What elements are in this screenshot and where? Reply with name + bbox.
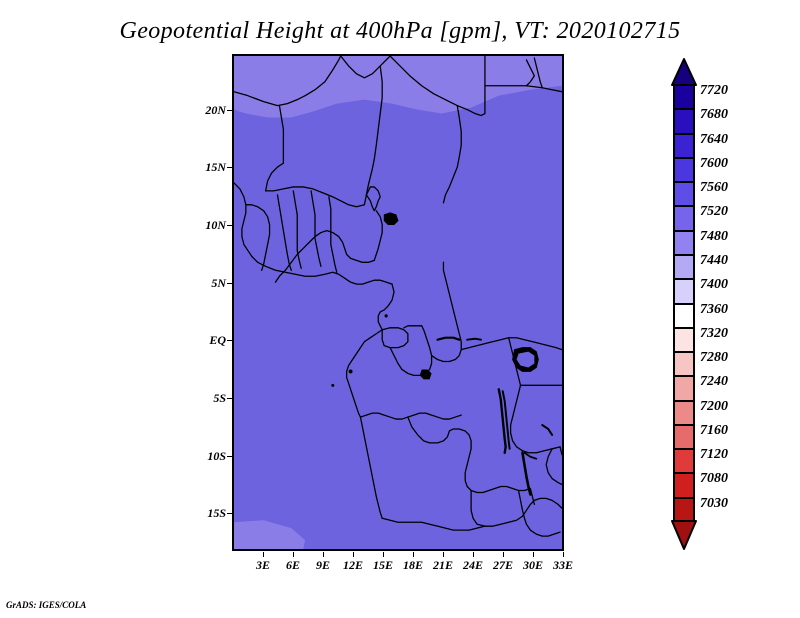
y-axis-tick-20n: [227, 110, 232, 111]
colorbar-tick-label: 7240: [700, 374, 728, 390]
colorbar-tick-label: 7560: [700, 180, 728, 196]
colorbar-segment: [673, 303, 695, 329]
colorbar-segment: [673, 448, 695, 474]
colorbar-tick-label: 7480: [700, 229, 728, 245]
colorbar-segment: [673, 254, 695, 280]
colorbar-tick-label: 7520: [700, 204, 728, 220]
x-axis-label-21e: 21E: [426, 558, 460, 573]
colorbar-tick-label: 7680: [700, 107, 728, 123]
grads-credit: GrADS: IGES/COLA: [6, 600, 86, 610]
y-axis-label-15s: 15S: [192, 506, 226, 521]
y-axis-label-eq: EQ: [192, 333, 226, 348]
colorbar[interactable]: [673, 84, 695, 521]
x-axis-label-15e: 15E: [366, 558, 400, 573]
y-axis-tick-15n: [227, 167, 232, 168]
colorbar-tick-label: 7280: [700, 350, 728, 366]
map-plot-area: [232, 54, 564, 551]
colorbar-segment: [673, 108, 695, 134]
colorbar-segment: [673, 157, 695, 183]
colorbar-tick-label: 7200: [700, 399, 728, 415]
x-axis-label-12e: 12E: [336, 558, 370, 573]
x-axis-tick-24e: [473, 552, 474, 557]
x-axis-tick-6e: [293, 552, 294, 557]
colorbar-segment: [673, 424, 695, 450]
colorbar-tick-label: 7400: [700, 277, 728, 293]
colorbar-tick-label: 7640: [700, 132, 728, 148]
page-title: Geopotential Height at 400hPa [gpm], VT:…: [0, 18, 800, 45]
x-axis-label-18e: 18E: [396, 558, 430, 573]
x-axis-tick-15e: [383, 552, 384, 557]
colorbar-segment: [673, 133, 695, 159]
colorbar-segment: [673, 375, 695, 401]
x-axis-label-30e: 30E: [516, 558, 550, 573]
colorbar-tick-label: 7600: [700, 156, 728, 172]
y-axis-tick-10n: [227, 225, 232, 226]
y-axis-label-20n: 20N: [192, 103, 226, 118]
x-axis-tick-9e: [323, 552, 324, 557]
colorbar-tick-label: 7080: [700, 471, 728, 487]
x-axis-tick-30e: [533, 552, 534, 557]
y-axis-tick-eq: [227, 340, 232, 341]
colorbar-tick-label: 7320: [700, 326, 728, 342]
y-axis-tick-10s: [227, 456, 232, 457]
colorbar-segment: [673, 84, 695, 110]
colorbar-tick-label: 7720: [700, 83, 728, 99]
colorbar-segment: [673, 230, 695, 256]
colorbar-segment: [673, 181, 695, 207]
y-axis-label-5s: 5S: [192, 391, 226, 406]
y-axis-label-15n: 15N: [192, 160, 226, 175]
x-axis-tick-18e: [413, 552, 414, 557]
colorbar-segment: [673, 205, 695, 231]
colorbar-arrow-bottom-outline: [671, 519, 697, 550]
y-axis-label-10s: 10S: [192, 449, 226, 464]
x-axis-tick-12e: [353, 552, 354, 557]
y-axis-label-5n: 5N: [192, 276, 226, 291]
y-axis-tick-5n: [227, 283, 232, 284]
map-svg: [234, 56, 562, 549]
y-axis-tick-5s: [227, 398, 232, 399]
colorbar-tick-label: 7360: [700, 302, 728, 318]
x-axis-tick-33e: [563, 552, 564, 557]
colorbar-segment: [673, 400, 695, 426]
x-axis-tick-3e: [263, 552, 264, 557]
colorbar-tick-label: 7030: [700, 496, 728, 512]
colorbar-segment: [673, 351, 695, 377]
x-axis-label-3e: 3E: [246, 558, 280, 573]
y-axis-label-10n: 10N: [192, 218, 226, 233]
colorbar-segment: [673, 278, 695, 304]
x-axis-label-9e: 9E: [306, 558, 340, 573]
colorbar-tick-label: 7120: [700, 447, 728, 463]
colorbar-segment: [673, 472, 695, 498]
y-axis-tick-15s: [227, 513, 232, 514]
x-axis-label-33e: 33E: [546, 558, 580, 573]
x-axis-label-24e: 24E: [456, 558, 490, 573]
x-axis-label-27e: 27E: [486, 558, 520, 573]
x-axis-tick-21e: [443, 552, 444, 557]
colorbar-arrow-top-outline: [671, 58, 697, 86]
x-axis-tick-27e: [503, 552, 504, 557]
colorbar-segment: [673, 327, 695, 353]
x-axis-label-6e: 6E: [276, 558, 310, 573]
colorbar-tick-label: 7440: [700, 253, 728, 269]
colorbar-tick-label: 7160: [700, 423, 728, 439]
